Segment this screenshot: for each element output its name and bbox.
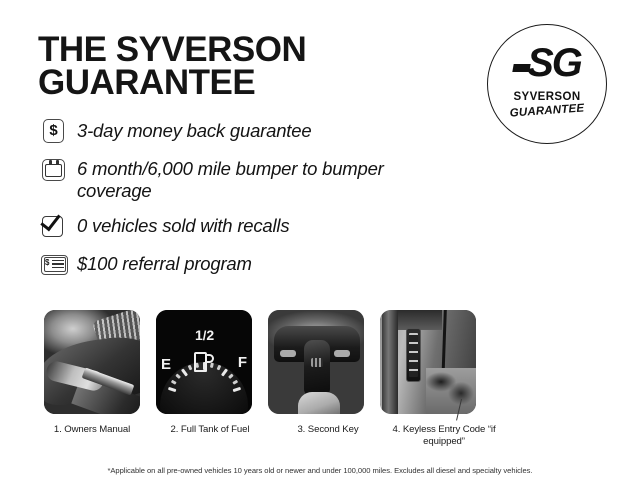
- calendar-icon: [41, 156, 68, 183]
- check-voucher-icon: $: [41, 251, 68, 278]
- gauge-half-label: 1/2: [195, 328, 214, 342]
- page-title: THE SYVERSON GUARANTEE: [38, 33, 398, 100]
- gauge-half-numerator: 1: [195, 327, 203, 343]
- list-item-label: $100 referral program: [77, 251, 252, 275]
- photo-strip: 1/2 E F: [44, 310, 509, 415]
- list-item-label: 0 vehicles sold with recalls: [77, 213, 289, 237]
- photo-caption-2: 2. Full Tank of Fuel: [156, 424, 264, 449]
- photo-caption-4: 4. Keyless Entry Code “if equipped”: [388, 424, 500, 449]
- footnote: *Applicable on all pre-owned vehicles 10…: [0, 466, 640, 475]
- sg-monogram: SG: [488, 43, 606, 83]
- photo-caption-3: 3. Second Key: [274, 424, 382, 449]
- checkmark-icon: [41, 213, 68, 240]
- owners-manual-photo: [44, 310, 140, 414]
- syverson-guarantee-graphic: THE SYVERSON GUARANTEE SG SYVERSON GUARA…: [0, 0, 640, 495]
- page-title-line-1: THE SYVERSON: [38, 33, 398, 66]
- logo-word-guarantee: GUARANTEE: [488, 101, 607, 121]
- list-item: $ $100 referral program: [41, 251, 441, 278]
- photo-caption-1: 1. Owners Manual: [38, 424, 146, 449]
- photo-captions: 1. Owners Manual 2. Full Tank of Fuel 3.…: [44, 424, 509, 449]
- gauge-full-label: F: [238, 354, 247, 371]
- fuel-pump-icon: [194, 350, 214, 374]
- dollar-sign-icon: $: [41, 118, 68, 145]
- list-item-label: 6 month/6,000 mile bumper to bumper cove…: [77, 156, 441, 202]
- list-item: 0 vehicles sold with recalls: [41, 213, 441, 240]
- syverson-guarantee-logo: SG SYVERSON GUARANTEE: [487, 24, 607, 144]
- sg-monogram-text: SG: [527, 41, 581, 85]
- guarantee-list: $ 3-day money back guarantee 6 month/6,0…: [41, 118, 441, 289]
- page-title-line-2: GUARANTEE: [38, 66, 398, 99]
- list-item: $ 3-day money back guarantee: [41, 118, 441, 145]
- fuel-gauge-photo: 1/2 E F: [156, 310, 252, 414]
- gauge-empty-label: E: [161, 356, 171, 373]
- list-item: 6 month/6,000 mile bumper to bumper cove…: [41, 156, 441, 202]
- second-key-photo: [268, 310, 364, 414]
- gauge-half-denominator: 2: [206, 327, 214, 343]
- monogram-bar: [512, 64, 530, 72]
- list-item-label: 3-day money back guarantee: [77, 118, 311, 142]
